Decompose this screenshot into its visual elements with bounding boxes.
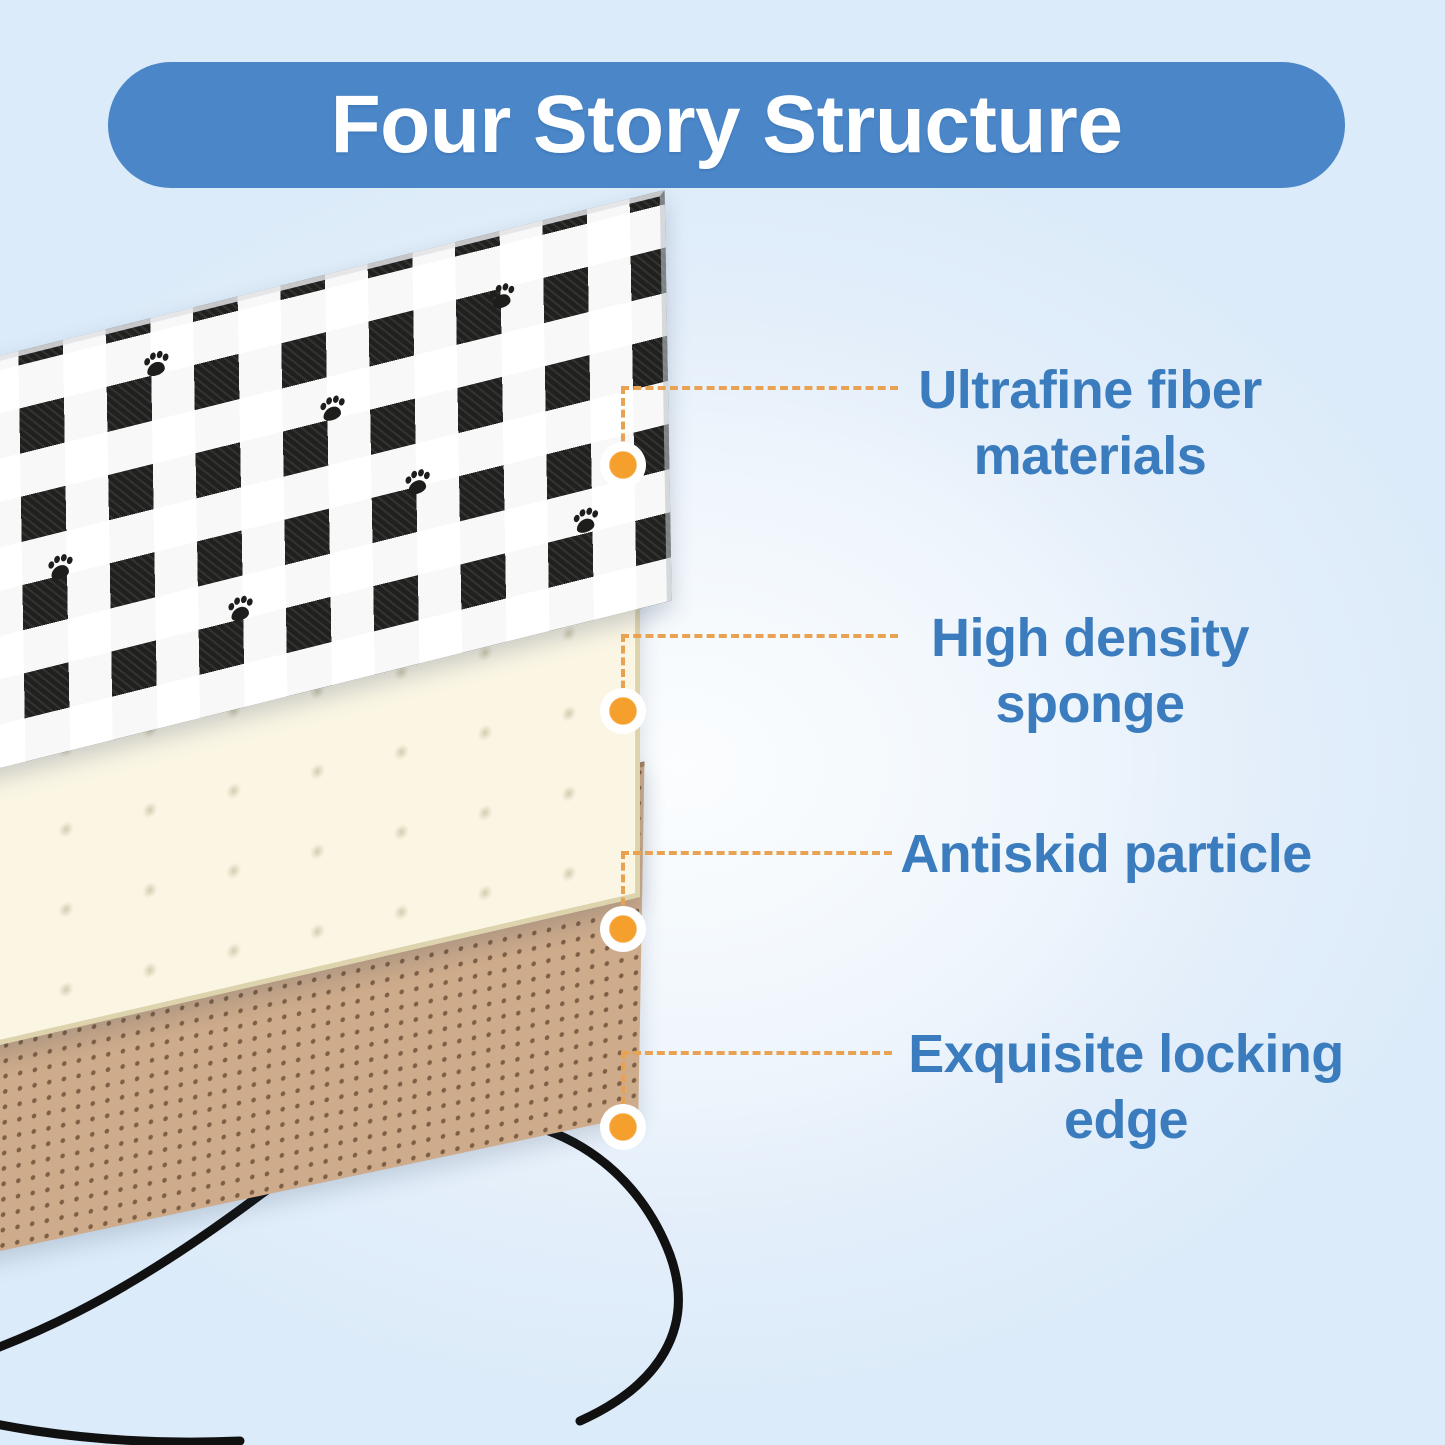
callout-marker-icon [600, 1104, 646, 1150]
paw-print-icon [489, 281, 515, 312]
callout-label-ultrafine-fiber: Ultrafine fiber materials [880, 358, 1300, 490]
callout-line-horizontal [621, 634, 898, 638]
page-title: Four Story Structure [331, 84, 1123, 166]
title-banner: Four Story Structure [108, 62, 1345, 188]
callout-label-exquisite-locking-edge: Exquisite locking edge [890, 1022, 1362, 1154]
paw-print-icon [573, 505, 599, 536]
callout-marker-icon [600, 688, 646, 734]
paw-print-icon [404, 467, 430, 498]
callout-label-high-density-sponge: High density sponge [880, 606, 1300, 738]
paw-print-icon [47, 552, 73, 583]
infographic-canvas: Four Story Structure Ultrafine fiber mat… [0, 0, 1445, 1445]
paw-print-icon [227, 594, 253, 625]
callout-line-horizontal [621, 1051, 892, 1055]
callout-marker-icon [600, 906, 646, 952]
callout-marker-icon [600, 442, 646, 488]
callout-label-antiskid-particle: Antiskid particle [872, 822, 1340, 888]
paw-print-icon [319, 393, 345, 424]
callout-line-horizontal [621, 386, 898, 390]
paw-print-icon [143, 349, 169, 380]
callout-line-horizontal [621, 851, 892, 855]
